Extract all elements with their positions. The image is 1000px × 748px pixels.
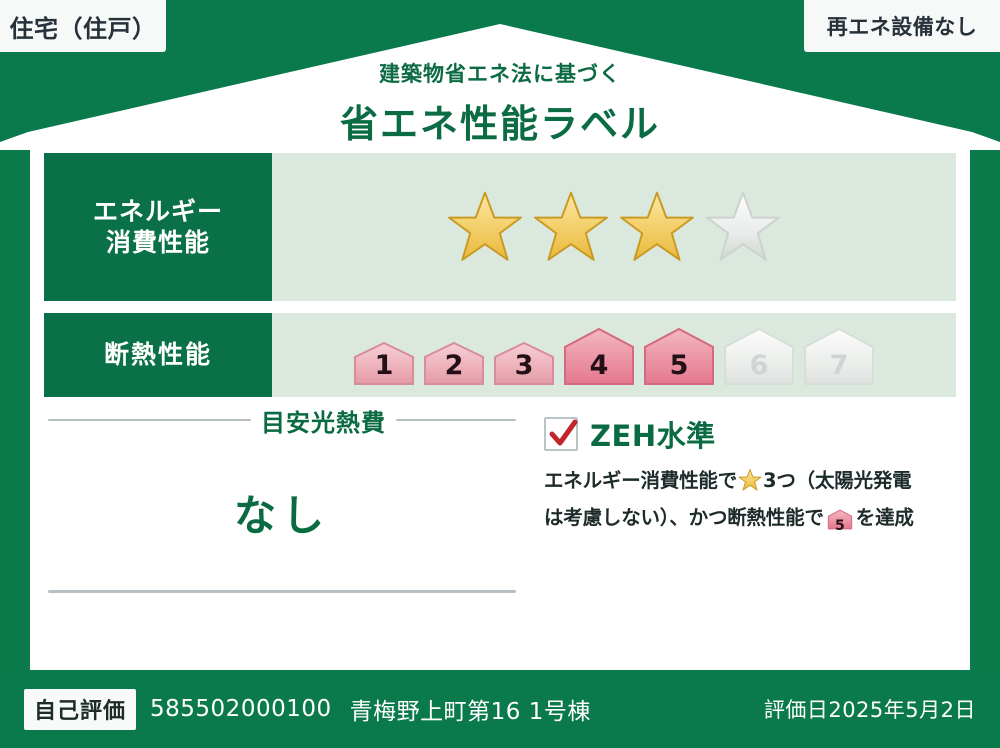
property-address: 青梅野上町第16 1号棟 [350, 692, 591, 726]
insulation-level-4: 4 [561, 323, 637, 387]
zeh-description: エネルギー消費性能で3つ（太陽光発電は考慮しない）、かつ断熱性能で5を達成 [544, 465, 956, 539]
zeh-desc-part-4: を達成 [856, 506, 914, 529]
star-icon-filled-3 [618, 188, 696, 266]
star-rating [446, 188, 782, 266]
title-subtitle: 建築物省エネ法に基づく [0, 58, 1000, 88]
footer-bar: 自己評価 585502000100 青梅野上町第16 1号棟 評価日2025年5… [0, 670, 1000, 748]
energy-performance-label-box: エネルギー 消費性能 [44, 153, 272, 301]
zeh-desc-part-2: 3つ（太陽光発電 [763, 469, 911, 492]
zeh-title-row: ZEH水準 [544, 413, 956, 455]
insulation-level-1: 1 [351, 335, 417, 387]
house-icon-inline: 5 [827, 508, 853, 540]
page-title: 建築物省エネ法に基づく 省エネ性能ラベル [0, 58, 1000, 148]
header-rule-right [396, 419, 516, 421]
insulation-scale: 1 2 3 [351, 323, 877, 393]
estimated-utility-cost-title: 目安光熱費 [261, 403, 386, 438]
insulation-level-3: 3 [491, 335, 557, 387]
estimated-utility-cost-block: 目安光熱費 なし [44, 405, 520, 657]
house-icon-inline-value: 5 [827, 515, 853, 538]
star-icon-filled-1 [446, 188, 524, 266]
estimated-utility-cost-header: 目安光熱費 [44, 405, 520, 435]
zeh-standard-block: ZEH水準 エネルギー消費性能で3つ（太陽光発電は考慮しない）、かつ断熱性能で5… [544, 413, 956, 539]
energy-label-line-2: 消費性能 [106, 227, 210, 258]
footer-content: 自己評価 585502000100 青梅野上町第16 1号棟 評価日2025年5… [0, 670, 1000, 748]
check-icon [548, 419, 578, 451]
star-icon-inline [738, 468, 762, 502]
zeh-checkbox[interactable] [544, 417, 578, 451]
insulation-performance-row: 断熱性能 [44, 313, 956, 397]
badge-renewable-equipment-label: 再エネ設備なし [827, 11, 978, 41]
badge-building-type-label: 住宅（住戸） [10, 9, 157, 44]
zeh-desc-part-3: は考慮しない）、かつ断熱性能で [544, 506, 824, 529]
insulation-performance-value: 1 2 3 [272, 313, 956, 397]
star-icon-filled-2 [532, 188, 610, 266]
zeh-title: ZEH水準 [590, 413, 716, 455]
evaluation-date: 評価日2025年5月2日 [764, 694, 976, 724]
insulation-label-text: 断熱性能 [104, 339, 212, 370]
insulation-level-7: 7 [801, 323, 877, 387]
estimated-utility-cost-value: なし [44, 435, 520, 590]
header-rule-left [48, 419, 251, 421]
self-evaluation-badge: 自己評価 [24, 689, 136, 730]
title-main: 省エネ性能ラベル [0, 93, 1000, 148]
zeh-desc-part-1: エネルギー消費性能で [544, 469, 737, 492]
badge-renewable-equipment: 再エネ設備なし [804, 0, 1000, 52]
badge-building-type: 住宅（住戸） [0, 0, 166, 52]
insulation-level-5: 5 [641, 323, 717, 387]
energy-performance-row: エネルギー 消費性能 [44, 153, 956, 301]
energy-performance-label: 住宅（住戸） 再エネ設備なし 建築物省エネ法に基づく 省エネ性能ラベル エネルギ… [0, 0, 1000, 748]
energy-performance-value [272, 153, 956, 301]
lower-section: 目安光熱費 なし ZEH水準 エネルギー消費性能で3つ（太陽光発電は考慮しな [44, 405, 956, 657]
energy-label-line-1: エネルギー [93, 196, 223, 227]
star-icon-empty-4 [704, 188, 782, 266]
content-panel: エネルギー 消費性能 [30, 143, 970, 670]
insulation-performance-label-box: 断熱性能 [44, 313, 272, 397]
insulation-level-2: 2 [421, 335, 487, 387]
cost-bottom-rule [48, 590, 516, 593]
insulation-level-6: 6 [721, 323, 797, 387]
label-id: 585502000100 [150, 696, 332, 722]
